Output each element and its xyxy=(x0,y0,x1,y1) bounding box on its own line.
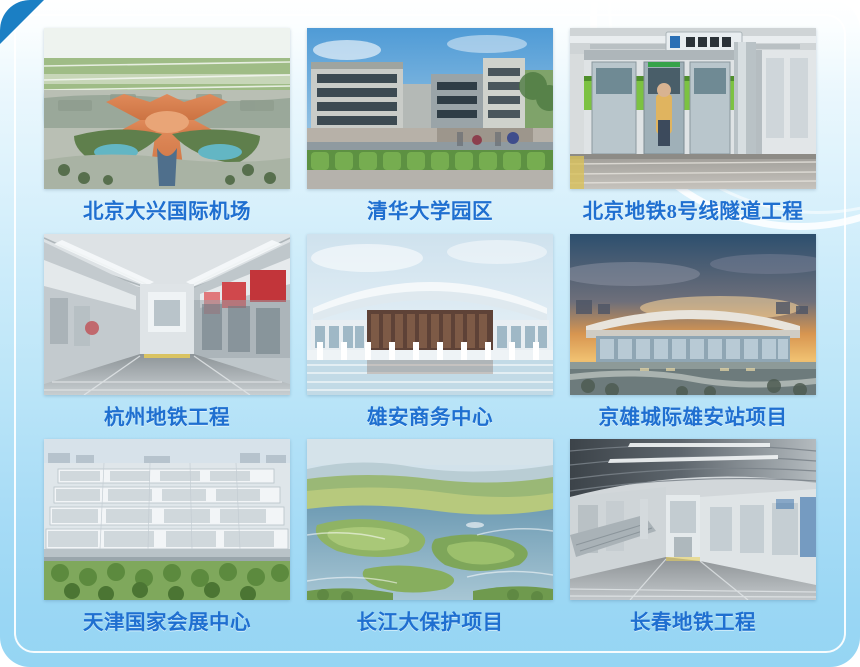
gallery-card-caption: 京雄城际雄安站项目 xyxy=(599,407,788,430)
gallery-card[interactable]: 北京地铁8号线隧道工程 xyxy=(570,28,816,229)
gallery-card-caption: 天津国家会展中心 xyxy=(83,612,251,635)
gallery-panel: 北京大兴国际机场 xyxy=(0,0,860,667)
xiongan-business-center-photo[interactable] xyxy=(307,234,553,395)
gallery-card[interactable]: 北京大兴国际机场 xyxy=(44,28,290,229)
gallery-card[interactable]: 雄安商务中心 xyxy=(307,234,553,435)
gallery-card-caption: 长春地铁工程 xyxy=(630,612,756,635)
beijing-daxing-international-airport-photo[interactable] xyxy=(44,28,290,189)
gallery-card[interactable]: 杭州地铁工程 xyxy=(44,234,290,435)
gallery-card-caption: 杭州地铁工程 xyxy=(104,407,230,430)
gallery-card[interactable]: 长春地铁工程 xyxy=(570,439,816,640)
gallery-card[interactable]: 清华大学园区 xyxy=(307,28,553,229)
gallery-card-caption: 长江大保护项目 xyxy=(357,612,504,635)
beijing-metro-line8-tunnel-photo[interactable] xyxy=(570,28,816,189)
gallery-card[interactable]: 长江大保护项目 xyxy=(307,439,553,640)
gallery-card[interactable]: 京雄城际雄安站项目 xyxy=(570,234,816,435)
gallery-card-caption: 雄安商务中心 xyxy=(367,407,493,430)
gallery-card-caption: 北京大兴国际机场 xyxy=(83,201,251,224)
project-gallery-grid: 北京大兴国际机场 xyxy=(44,28,816,640)
hangzhou-metro-project-photo[interactable] xyxy=(44,234,290,395)
changchun-metro-project-photo[interactable] xyxy=(570,439,816,600)
tianjin-national-convention-center-photo[interactable] xyxy=(44,439,290,600)
yangtze-river-protection-project-photo[interactable] xyxy=(307,439,553,600)
gallery-card-caption: 北京地铁8号线隧道工程 xyxy=(583,201,804,224)
gallery-card-caption: 清华大学园区 xyxy=(367,201,493,224)
gallery-card[interactable]: 天津国家会展中心 xyxy=(44,439,290,640)
tsinghua-university-campus-photo[interactable] xyxy=(307,28,553,189)
corner-triangle-icon xyxy=(0,0,44,44)
beijing-xiongan-intercity-station-photo[interactable] xyxy=(570,234,816,395)
